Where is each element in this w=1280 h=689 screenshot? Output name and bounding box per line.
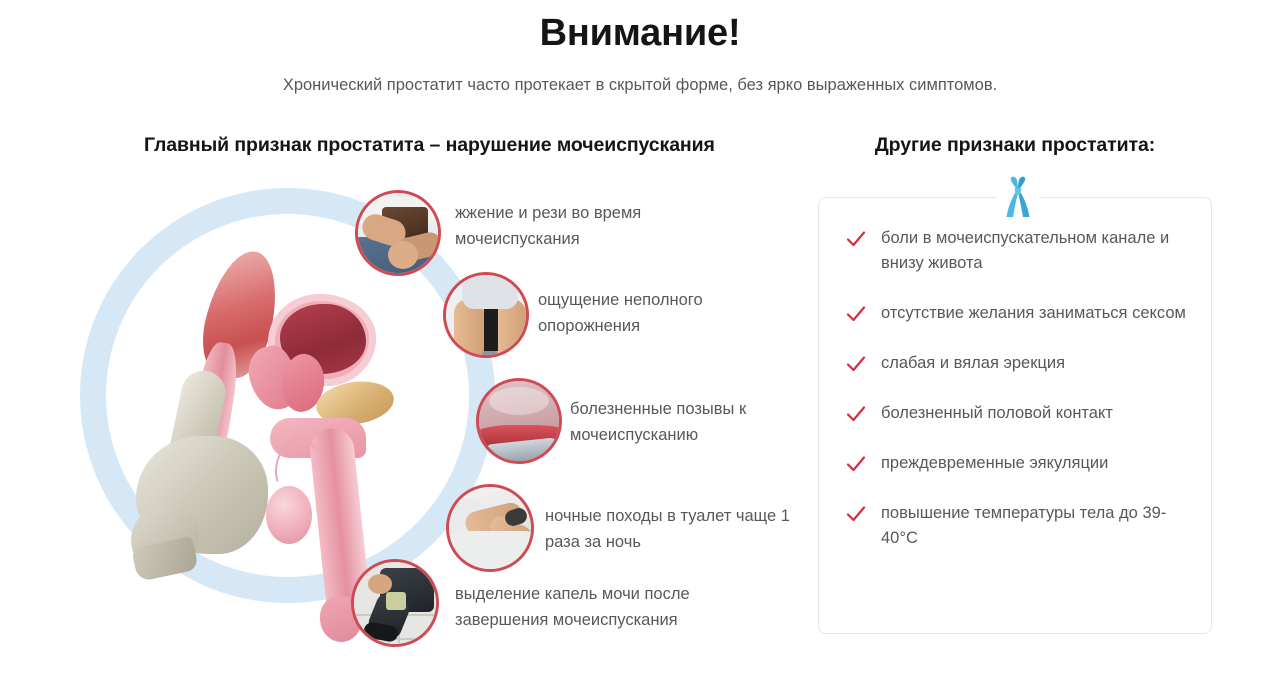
list-item: отсутствие желания заниматься сексом bbox=[845, 301, 1195, 326]
symptom-photo-5 bbox=[351, 559, 439, 647]
page-subtitle: Хронический простатит часто протекает в … bbox=[0, 76, 1280, 95]
symptom-label-3: болезненные позывы к мочеиспусканию bbox=[570, 396, 800, 448]
check-icon bbox=[845, 303, 867, 325]
list-item-label: преждевременные эякуляции bbox=[881, 451, 1108, 476]
symptom-photo-3 bbox=[476, 378, 562, 464]
testicle-shape bbox=[266, 486, 312, 544]
check-icon bbox=[845, 228, 867, 250]
main-illustration-stage bbox=[70, 170, 510, 650]
other-signs-checklist: боли в мочеиспускательном канале и внизу… bbox=[845, 226, 1195, 551]
list-item: повышение температуры тела до 39-40°C bbox=[845, 501, 1195, 551]
symptom-label-4: ночные походы в туалет чаще 1 раза за но… bbox=[545, 503, 795, 555]
list-item: болезненный половой контакт bbox=[845, 401, 1195, 426]
symptom-label-1: жжение и рези во время мочеиспускания bbox=[455, 200, 715, 252]
symptom-label-5: выделение капель мочи после завершения м… bbox=[455, 581, 745, 633]
list-item: боли в мочеиспускательном канале и внизу… bbox=[845, 226, 1195, 276]
check-icon bbox=[845, 353, 867, 375]
right-section-heading: Другие признаки простатита: bbox=[820, 134, 1210, 157]
left-section-heading: Главный признак простатита – нарушение м… bbox=[144, 134, 764, 157]
list-item: преждевременные эякуляции bbox=[845, 451, 1195, 476]
list-item-label: болезненный половой контакт bbox=[881, 401, 1113, 426]
check-icon bbox=[845, 453, 867, 475]
prostate-anatomy-illustration bbox=[130, 250, 430, 550]
check-icon bbox=[845, 503, 867, 525]
list-item-label: отсутствие желания заниматься сексом bbox=[881, 301, 1186, 326]
list-item-label: боли в мочеиспускательном канале и внизу… bbox=[881, 226, 1193, 276]
list-item-label: повышение температуры тела до 39-40°C bbox=[881, 501, 1193, 551]
blue-awareness-ribbon-icon bbox=[997, 171, 1039, 223]
list-item-label: слабая и вялая эрекция bbox=[881, 351, 1065, 376]
symptom-photo-1 bbox=[355, 190, 441, 276]
symptom-photo-2 bbox=[443, 272, 529, 358]
list-item: слабая и вялая эрекция bbox=[845, 351, 1195, 376]
check-icon bbox=[845, 403, 867, 425]
symptom-photo-4 bbox=[446, 484, 534, 572]
page-title: Внимание! bbox=[0, 12, 1280, 55]
symptom-label-2: ощущение неполного опорожнения bbox=[538, 287, 788, 339]
